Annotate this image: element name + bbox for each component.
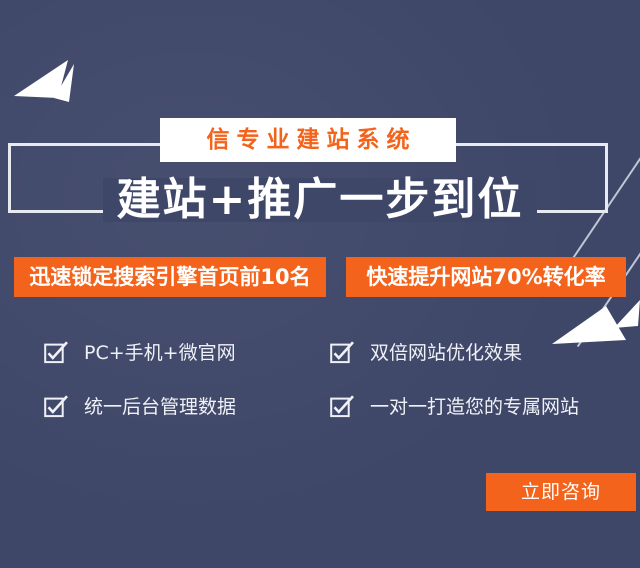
checkbox-checked-icon — [330, 395, 354, 419]
feature-list: PC+手机+微官网 统一后台管理数据 双倍网站优化效果 — [0, 330, 640, 426]
consult-now-button-label: 立即咨询 — [521, 483, 601, 502]
checkbox-checked-icon — [44, 341, 68, 365]
page-title-text: 建站+推广一步到位 — [103, 178, 538, 222]
list-item-label: 双倍网站优化效果 — [370, 344, 522, 363]
list-item: 一对一打造您的专属网站 — [330, 390, 579, 424]
highlight-strip-right: 快速提升网站70%转化率 — [346, 257, 626, 297]
paper-plane-icon — [12, 58, 78, 110]
page-title: 建站+推广一步到位 — [0, 178, 640, 222]
list-item: PC+手机+微官网 — [44, 336, 236, 370]
checkbox-checked-icon — [44, 395, 68, 419]
promo-banner: 信专业建站系统 建站+推广一步到位 迅速锁定搜索引擎首页前10名 快速提升网站7… — [0, 0, 640, 568]
checkbox-checked-icon — [330, 341, 354, 365]
consult-now-button[interactable]: 立即咨询 — [486, 473, 636, 511]
list-item-label: 一对一打造您的专属网站 — [370, 398, 579, 417]
subtitle-tag: 信专业建站系统 — [160, 118, 456, 162]
highlight-strip-left: 迅速锁定搜索引擎首页前10名 — [14, 257, 326, 297]
list-item: 统一后台管理数据 — [44, 390, 236, 424]
list-item-label: PC+手机+微官网 — [84, 344, 236, 363]
list-item: 双倍网站优化效果 — [330, 336, 522, 370]
highlight-strip-right-label: 快速提升网站70%转化率 — [366, 267, 605, 288]
subtitle-tag-label: 信专业建站系统 — [200, 129, 417, 152]
highlight-strip-left-label: 迅速锁定搜索引擎首页前10名 — [29, 267, 310, 288]
list-item-label: 统一后台管理数据 — [84, 398, 236, 417]
